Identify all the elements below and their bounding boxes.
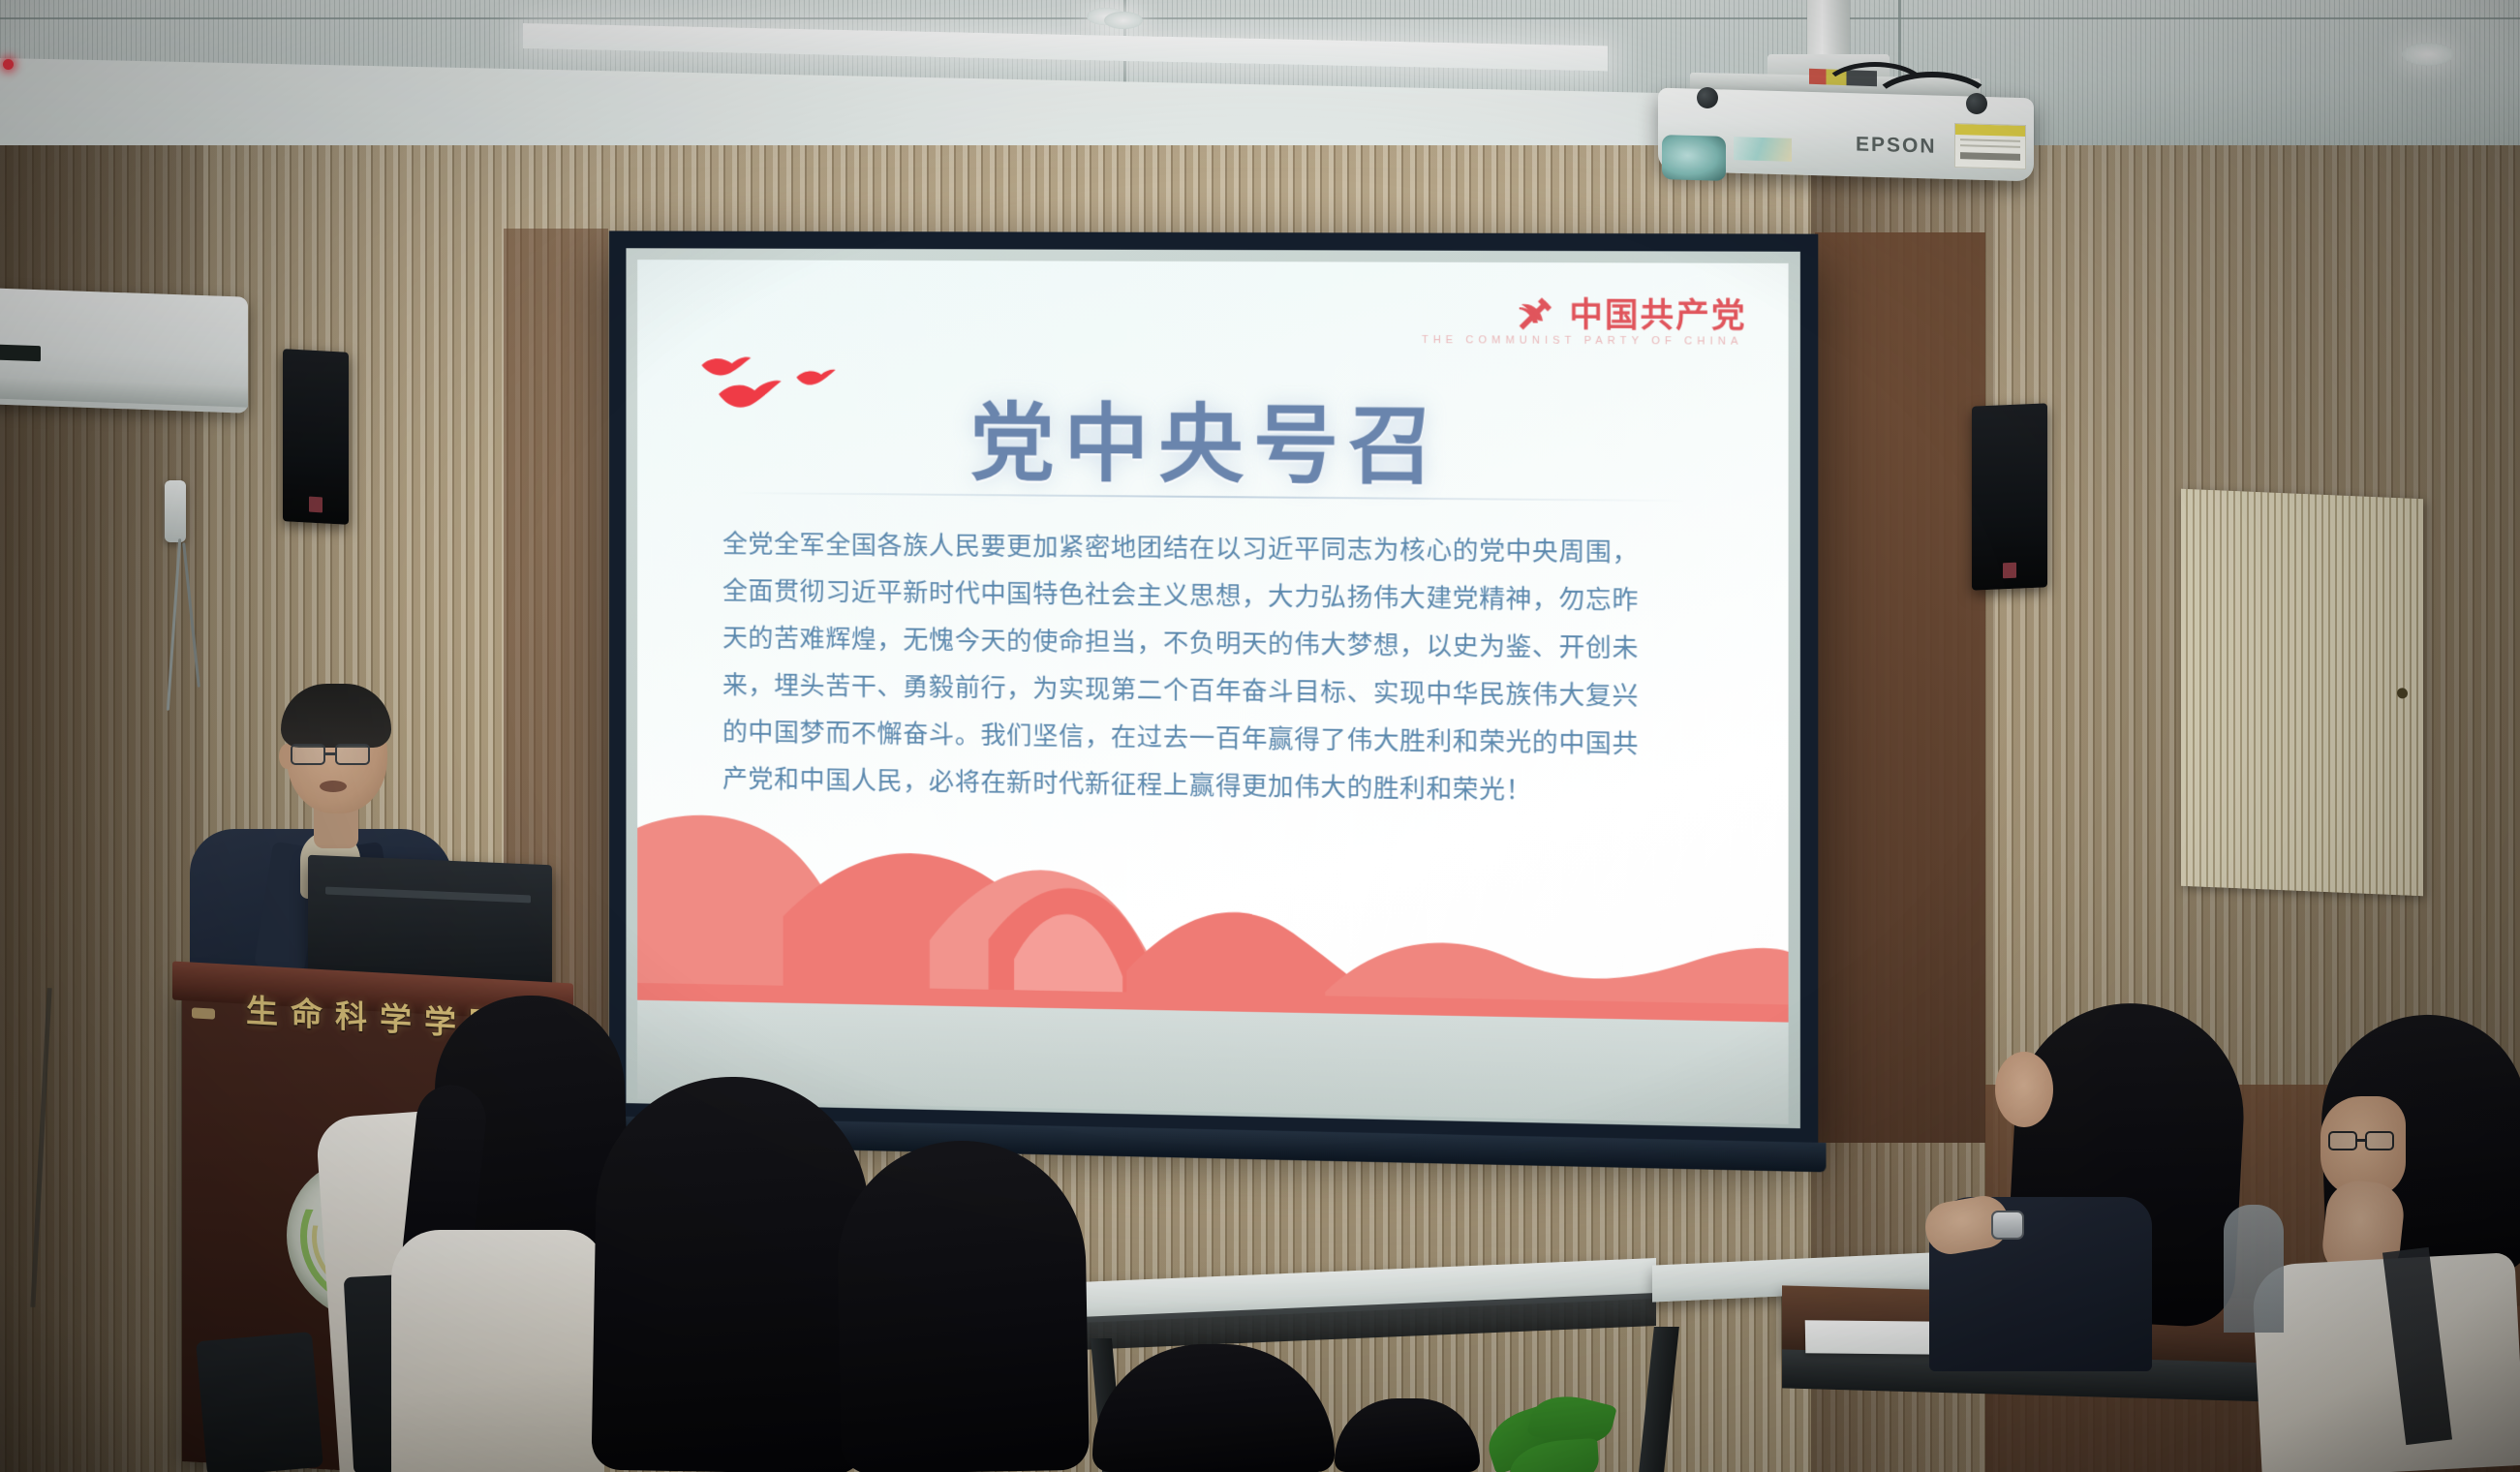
speaker-badge-icon (309, 497, 323, 513)
downlight-icon (2402, 43, 2454, 66)
projector-adjust-knob[interactable] (1697, 87, 1718, 108)
hammer-sickle-icon (1513, 291, 1560, 334)
glasses-icon (291, 744, 384, 765)
slide-body-text: 全党全军全国各族人民要更加紧密地团结在以习近平同志为核心的党中央周围， 全面贯彻… (722, 521, 1719, 817)
notebook-on-table[interactable] (1805, 1320, 1950, 1355)
ac-louver (0, 377, 248, 407)
projector-brand-badge (1734, 137, 1792, 162)
party-logo: 中国共产党 (1513, 288, 1747, 336)
podium-plate-knob-icon (192, 1007, 215, 1019)
panel-latch-icon[interactable] (2397, 688, 2408, 698)
chair-back (196, 1332, 323, 1472)
glasses-icon (2328, 1131, 2400, 1152)
student-front-3-hair (836, 1139, 1090, 1472)
wristwatch-icon (1991, 1211, 2024, 1240)
potted-plant (1477, 1385, 1622, 1472)
projection-screen: 中国共产党 THE COMMUNIST PARTY OF CHINA 党中央号召… (609, 230, 1818, 1146)
chair-back (2224, 1205, 2284, 1333)
lecture-hall-scene: EPSON 中国共产党 THE COMMUNIST PARTY OF CHI (0, 0, 2520, 1472)
wall-microphone[interactable] (165, 480, 186, 542)
student-front-1-coat (391, 1230, 604, 1472)
right-wall-speaker (1972, 403, 2047, 590)
projected-slide: 中国共产党 THE COMMUNIST PARTY OF CHINA 党中央号召… (637, 260, 1788, 1022)
wood-panel-right (1815, 232, 1985, 1143)
left-wall-speaker (283, 349, 349, 525)
projector-lens (1662, 135, 1726, 181)
projector-asset-sticker (1954, 123, 2026, 169)
wall-access-panel[interactable] (2181, 489, 2423, 896)
ac-power-led-icon (3, 59, 14, 70)
presenter-mouth (320, 781, 347, 792)
party-logo-sublabel: THE COMMUNIST PARTY OF CHINA (1422, 334, 1743, 348)
downlight-icon (1104, 12, 1143, 29)
projector-brand-label: EPSON (1856, 133, 1962, 161)
slide-title: 党中央号召 (637, 373, 1788, 504)
ac-display (0, 345, 41, 362)
student-right-1-face (1995, 1052, 2053, 1127)
speaker-badge-icon (2003, 563, 2016, 579)
slide-mountain-graphic (637, 791, 1788, 1022)
projector-mount-pole (1807, 0, 1850, 60)
ceiling-seam (0, 17, 2520, 19)
wall-air-conditioner[interactable] (0, 288, 248, 413)
projector-adjust-knob[interactable] (1966, 93, 1987, 114)
student-front-2-hair (591, 1075, 871, 1472)
party-logo-label: 中国共产党 (1569, 288, 1746, 336)
